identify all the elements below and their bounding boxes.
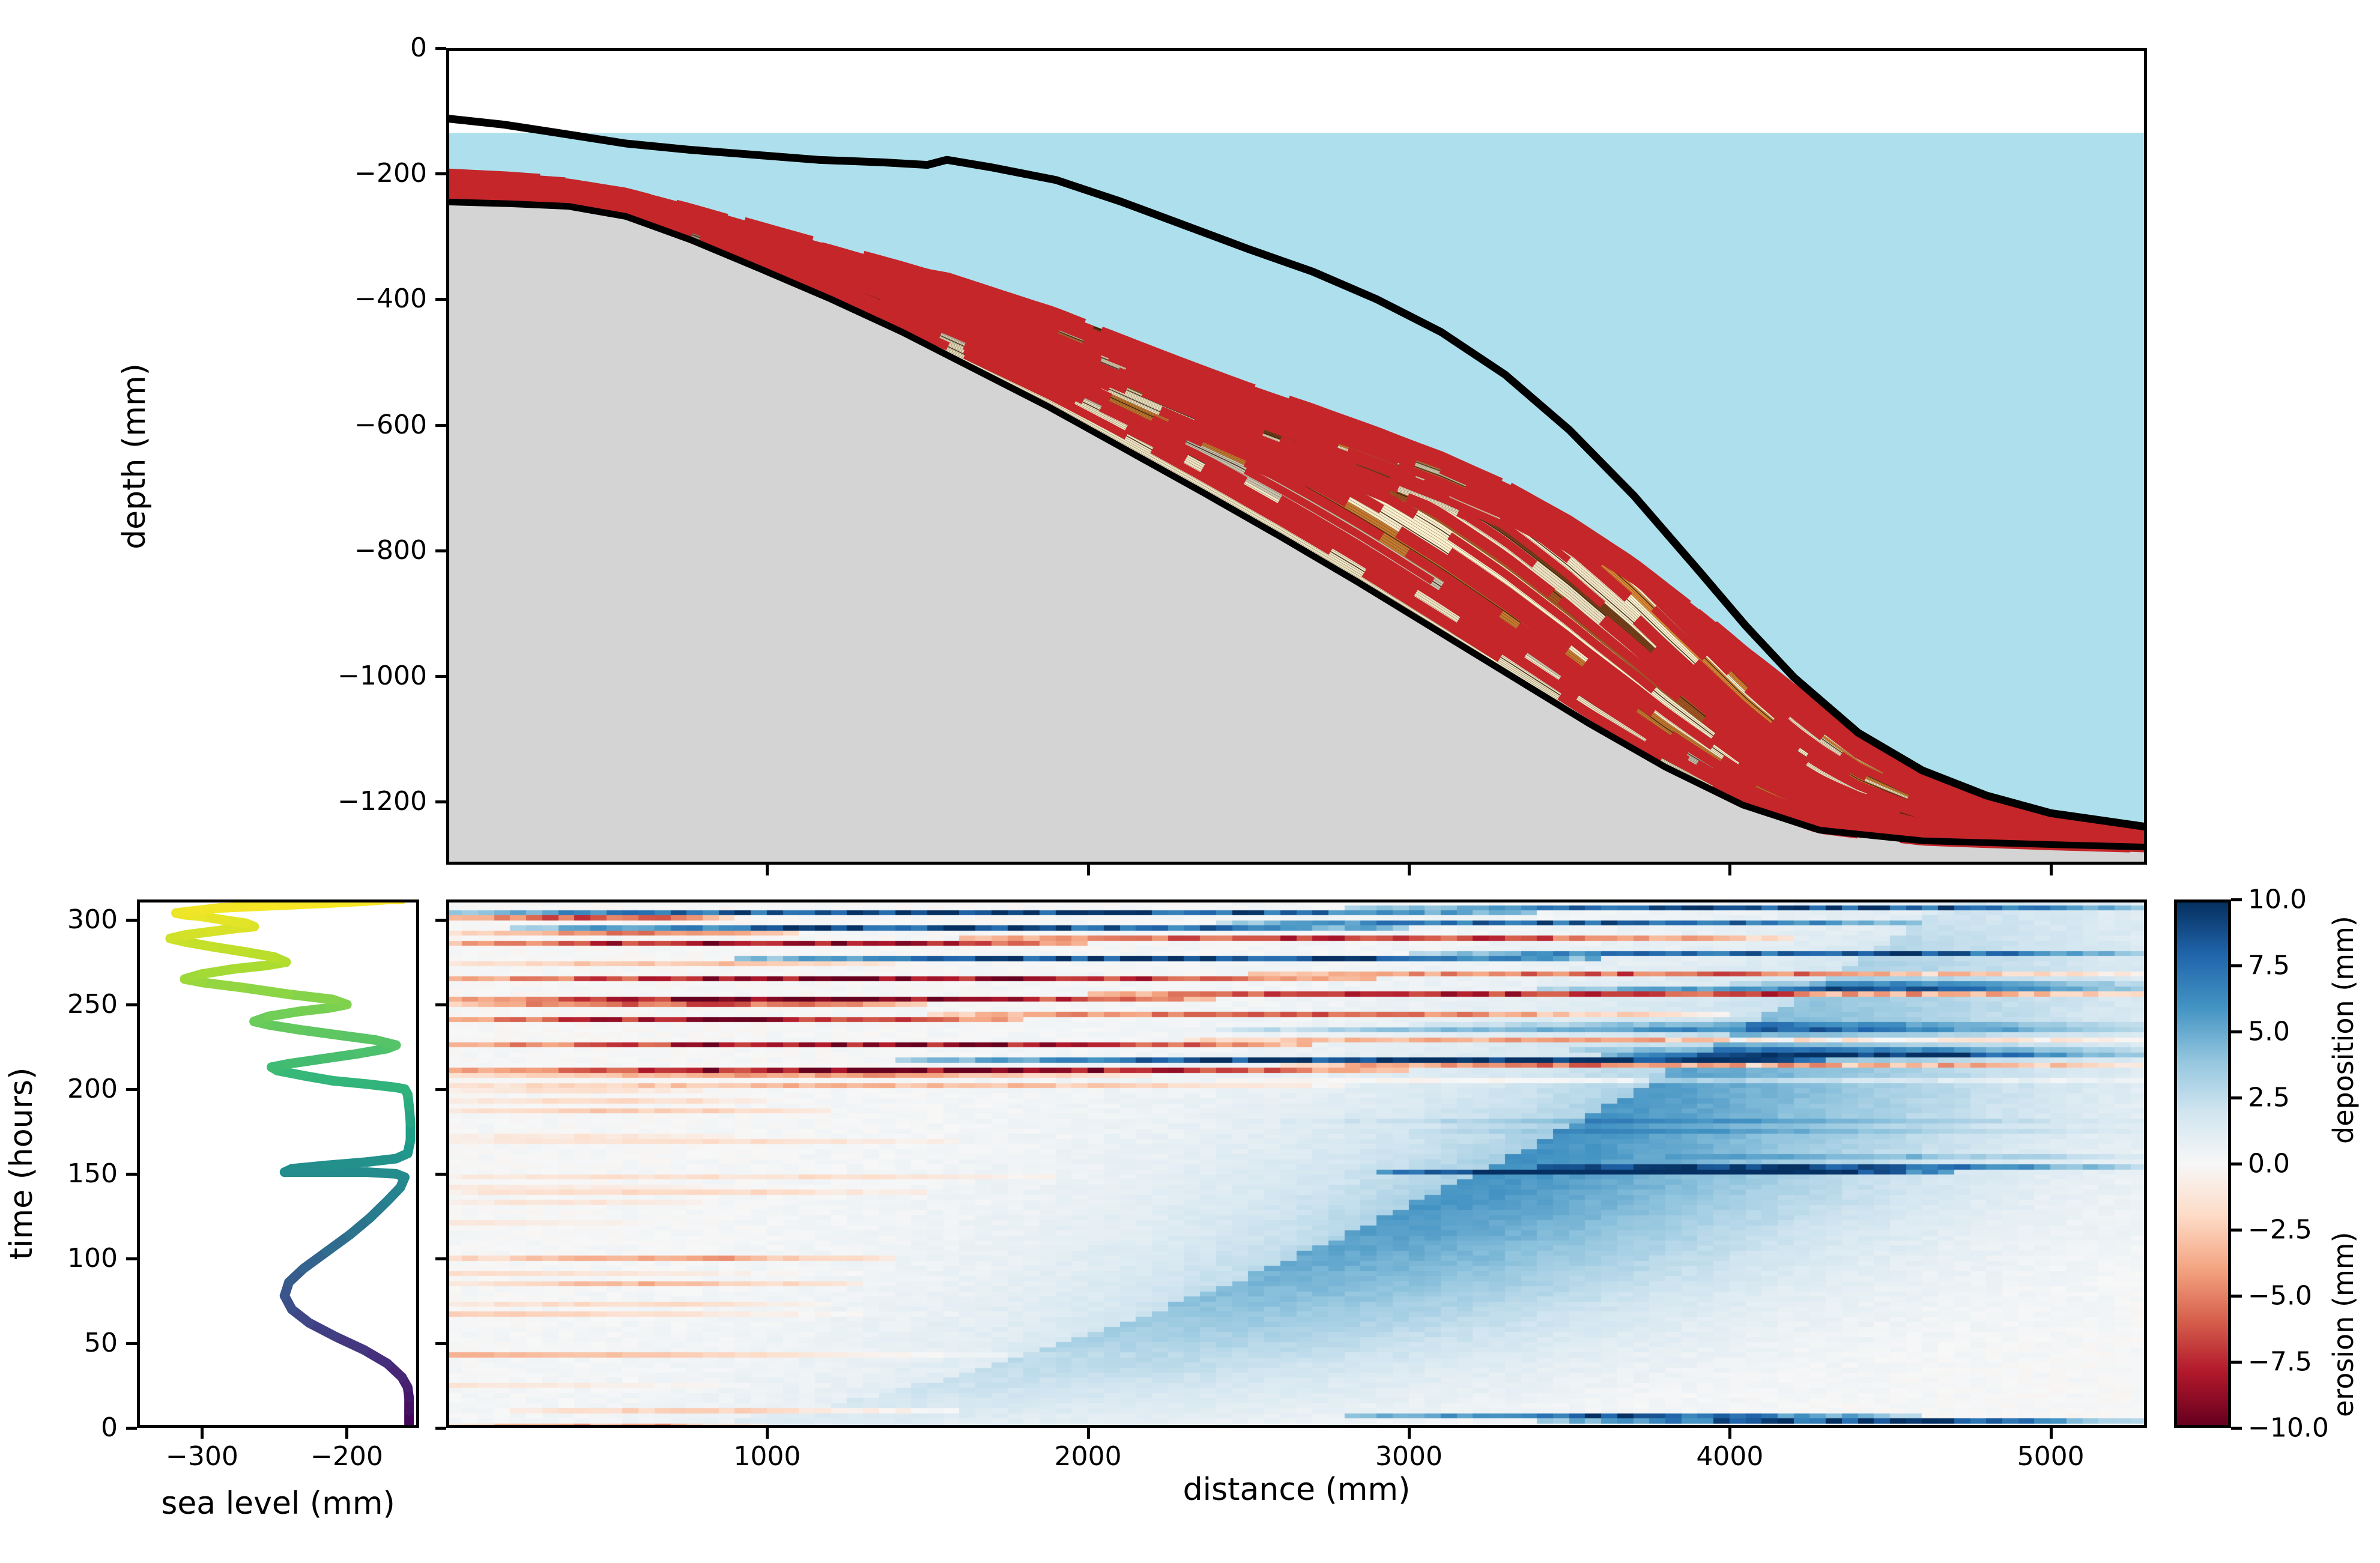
colorbar-tick-label: 5.0 xyxy=(2248,1017,2290,1047)
x-tick-label: 3000 xyxy=(1375,1444,1443,1470)
colorbar-tick-mark xyxy=(2231,964,2242,967)
stratigraphy-y-axis-label: depth (mm) xyxy=(119,363,150,549)
sea-level-segment xyxy=(295,903,333,905)
y-tick-mark xyxy=(126,1427,137,1430)
y-tick-label: 150 xyxy=(67,1161,118,1187)
y-tick-label: −200 xyxy=(354,160,427,187)
y-tick-mark xyxy=(435,919,446,922)
sea-level-polyline xyxy=(170,899,410,1428)
colorbar-tick-mark xyxy=(2231,1162,2242,1165)
x-tick-label: 1000 xyxy=(733,1444,801,1470)
stratigraphy-panel xyxy=(446,48,2147,865)
y-tick-mark xyxy=(435,424,446,427)
colorbar-tick-label: −5.0 xyxy=(2248,1281,2312,1311)
colorbar-tick-mark xyxy=(2231,1229,2242,1232)
y-tick-mark xyxy=(435,1257,446,1260)
sea-level-segment xyxy=(292,1165,327,1169)
sea-level-segment xyxy=(327,1162,367,1165)
colorbar-tick-label: 2.5 xyxy=(2248,1083,2290,1113)
x-tick-mark xyxy=(766,1428,769,1439)
y-tick-label: −600 xyxy=(354,412,427,438)
colorbar-tick-label: −10.0 xyxy=(2248,1413,2329,1444)
y-tick-mark xyxy=(435,47,446,50)
y-tick-mark xyxy=(435,298,446,301)
x-tick-mark xyxy=(1728,1428,1731,1439)
y-tick-mark xyxy=(435,172,446,175)
colorbar-tick-mark xyxy=(2231,1361,2242,1364)
colorbar-tick-label: −2.5 xyxy=(2248,1215,2312,1245)
y-tick-mark xyxy=(126,1173,137,1176)
sea-level-segment xyxy=(268,1025,300,1030)
sea-level-segment xyxy=(289,1059,324,1063)
colorbar-tick-mark xyxy=(2231,1295,2242,1298)
colorbar-tick-mark xyxy=(2231,1096,2242,1099)
erosion-surface-segment xyxy=(446,175,540,180)
x-tick-mark xyxy=(1408,865,1411,875)
x-tick-mark xyxy=(345,1428,348,1439)
x-tick-label: 2000 xyxy=(1055,1444,1122,1470)
y-tick-mark xyxy=(126,919,137,922)
sea-level-segment xyxy=(289,994,332,999)
y-tick-label: 50 xyxy=(84,1330,118,1356)
colorbar-tick-label: 0.0 xyxy=(2248,1149,2290,1179)
y-tick-label: −1200 xyxy=(338,788,427,815)
sea-level-segment xyxy=(324,1054,359,1059)
erosion-deposition-heatmap-panel xyxy=(446,899,2147,1428)
x-tick-label: −200 xyxy=(310,1444,383,1470)
y-tick-label: 100 xyxy=(67,1245,118,1272)
x-tick-label: 5000 xyxy=(2017,1444,2085,1470)
y-tick-label: 0 xyxy=(101,1415,118,1441)
colorbar-tick-mark xyxy=(2231,898,2242,901)
x-tick-label: 4000 xyxy=(1696,1444,1763,1470)
heatmap-x-axis-label: distance (mm) xyxy=(1183,1474,1411,1505)
x-tick-label: −300 xyxy=(166,1444,238,1470)
x-tick-mark xyxy=(1728,865,1731,875)
colorbar-gradient xyxy=(2177,902,2228,1425)
colorbar-deposition-label: deposition (mm) xyxy=(2327,916,2360,1144)
sea-level-x-axis-label: sea level (mm) xyxy=(161,1488,395,1519)
x-tick-mark xyxy=(201,1428,204,1439)
sea-level-segment xyxy=(202,982,242,987)
sea-level-segment xyxy=(214,947,246,952)
sea-level-y-axis-label: time (hours) xyxy=(6,1068,37,1260)
sea-level-segment xyxy=(243,988,289,994)
x-tick-mark xyxy=(766,865,769,875)
y-tick-mark xyxy=(435,1173,446,1176)
sea-level-segment xyxy=(268,1011,300,1016)
y-tick-mark xyxy=(435,800,446,803)
figure-root: 0−200−400−600−800−1000−1200 depth (mm) 0… xyxy=(0,0,2380,1563)
colorbar-tick-label: 7.5 xyxy=(2248,951,2290,981)
stratigraphy-cross-section xyxy=(446,48,2147,865)
y-tick-label: −400 xyxy=(354,286,427,312)
y-tick-mark xyxy=(126,1088,137,1091)
erosion-deposition-heatmap xyxy=(446,899,2147,1428)
colorbar xyxy=(2174,899,2231,1428)
sea-level-segment xyxy=(219,906,257,908)
y-tick-label: 0 xyxy=(410,35,427,61)
y-tick-mark xyxy=(435,549,446,552)
colorbar-tick-mark xyxy=(2231,1030,2242,1033)
sea-level-curve xyxy=(137,899,419,1428)
y-tick-mark xyxy=(435,1342,446,1345)
y-tick-mark xyxy=(126,1003,137,1006)
y-tick-label: −800 xyxy=(354,537,427,564)
sea-level-segment xyxy=(332,1081,367,1084)
colorbar-erosion-label: erosion (mm) xyxy=(2327,1232,2360,1417)
x-tick-mark xyxy=(1087,865,1090,875)
x-tick-mark xyxy=(1087,1428,1090,1439)
y-tick-mark xyxy=(435,1088,446,1091)
colorbar-tick-label: −7.5 xyxy=(2248,1347,2312,1377)
y-tick-label: 250 xyxy=(67,991,118,1018)
sea-level-segment xyxy=(202,969,234,974)
y-tick-label: 200 xyxy=(67,1076,118,1102)
y-tick-mark xyxy=(435,1427,446,1430)
x-tick-mark xyxy=(2050,1428,2053,1439)
y-tick-mark xyxy=(126,1342,137,1345)
colorbar-tick-mark xyxy=(2231,1427,2242,1430)
colorbar-frame xyxy=(2174,899,2231,1428)
sea-level-segment xyxy=(257,904,295,906)
sea-level-segment xyxy=(300,1030,338,1035)
sea-level-segment xyxy=(338,1035,376,1040)
y-tick-mark xyxy=(435,1003,446,1006)
sea-level-panel xyxy=(137,899,419,1428)
y-tick-label: 300 xyxy=(67,907,118,933)
y-tick-mark xyxy=(435,675,446,678)
x-tick-mark xyxy=(2050,865,2053,875)
y-tick-mark xyxy=(126,1257,137,1260)
y-tick-label: −1000 xyxy=(338,663,427,689)
x-tick-mark xyxy=(1408,1428,1411,1439)
colorbar-tick-label: 10.0 xyxy=(2248,884,2307,915)
